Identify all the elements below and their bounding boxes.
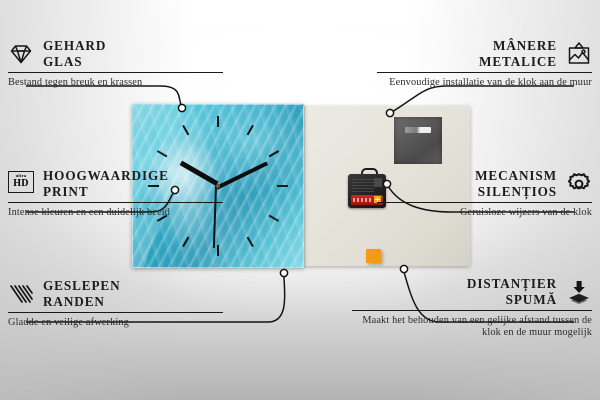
- callout-header: ultra HD HOOGWAARDIGE PRINT: [8, 168, 223, 199]
- battery-label: [353, 198, 373, 202]
- gear-icon: [566, 171, 592, 197]
- callout-divider: [8, 202, 223, 203]
- ultra-hd-icon-large-text: HD: [13, 179, 28, 189]
- callout-title: DISTANȚIER SPUMĂ: [467, 276, 557, 307]
- picture-frame-hanger-icon: [566, 41, 592, 67]
- callout-description: Intense kleuren en een duidelijk beeld: [8, 207, 223, 219]
- metal-hanger-plate: [394, 117, 442, 164]
- callout-header: GESLEPEN RANDEN: [8, 278, 223, 309]
- callout-divider: [377, 72, 592, 73]
- callout-header: GEHARD GLAS: [8, 38, 223, 69]
- callout-title: HOOGWAARDIGE PRINT: [43, 168, 169, 199]
- callout-description: Bestand tegen breuk en krassen: [8, 77, 223, 89]
- callout-title: GEHARD GLAS: [43, 38, 106, 69]
- hanger-slot: [405, 127, 431, 133]
- infographic-canvas: GEHARD GLAS Bestand tegen breuk en krass…: [0, 0, 600, 400]
- callout-header: DISTANȚIER SPUMĂ: [352, 276, 592, 307]
- callout-header: MECANISM SILENȚIOS: [377, 168, 592, 199]
- callout-divider: [8, 312, 223, 313]
- callout-foam-spacer[interactable]: DISTANȚIER SPUMĂ Maakt het behouden van …: [352, 276, 592, 340]
- callout-description: Gladde en veilige afwerking: [8, 317, 223, 329]
- callout-divider: [8, 72, 223, 73]
- callout-title: MÂNERE METALICE: [479, 38, 557, 69]
- callout-header: MÂNERE METALICE: [377, 38, 592, 69]
- foam-spacer-pad: [366, 249, 381, 263]
- callout-silent-mechanism[interactable]: MECANISM SILENȚIOS Geruisloze wijzers va…: [377, 168, 592, 219]
- callout-divider: [377, 202, 592, 203]
- callout-tempered-glass[interactable]: GEHARD GLAS Bestand tegen breuk en krass…: [8, 38, 223, 89]
- diamond-icon: [8, 41, 34, 67]
- callout-description: Eenvoudige installatie van de klok aan d…: [377, 77, 592, 89]
- callout-description: Geruisloze wijzers van de klok: [377, 207, 592, 219]
- diagonal-lines-icon: [8, 281, 34, 307]
- ultra-hd-icon: ultra HD: [8, 171, 34, 197]
- mechanism-vents: [352, 179, 374, 192]
- callout-title: MECANISM SILENȚIOS: [475, 168, 557, 199]
- callout-title: GESLEPEN RANDEN: [43, 278, 121, 309]
- callout-metal-handles[interactable]: MÂNERE METALICE Eenvoudige installatie v…: [377, 38, 592, 89]
- arrow-down-layers-icon: [566, 279, 592, 305]
- callout-high-quality-print[interactable]: ultra HD HOOGWAARDIGE PRINT Intense kleu…: [8, 168, 223, 219]
- callout-description: Maakt het behouden van een gelijke afsta…: [352, 315, 592, 340]
- callout-divider: [352, 310, 592, 311]
- callout-ground-edges[interactable]: GESLEPEN RANDEN Gladde en veilige afwerk…: [8, 278, 223, 329]
